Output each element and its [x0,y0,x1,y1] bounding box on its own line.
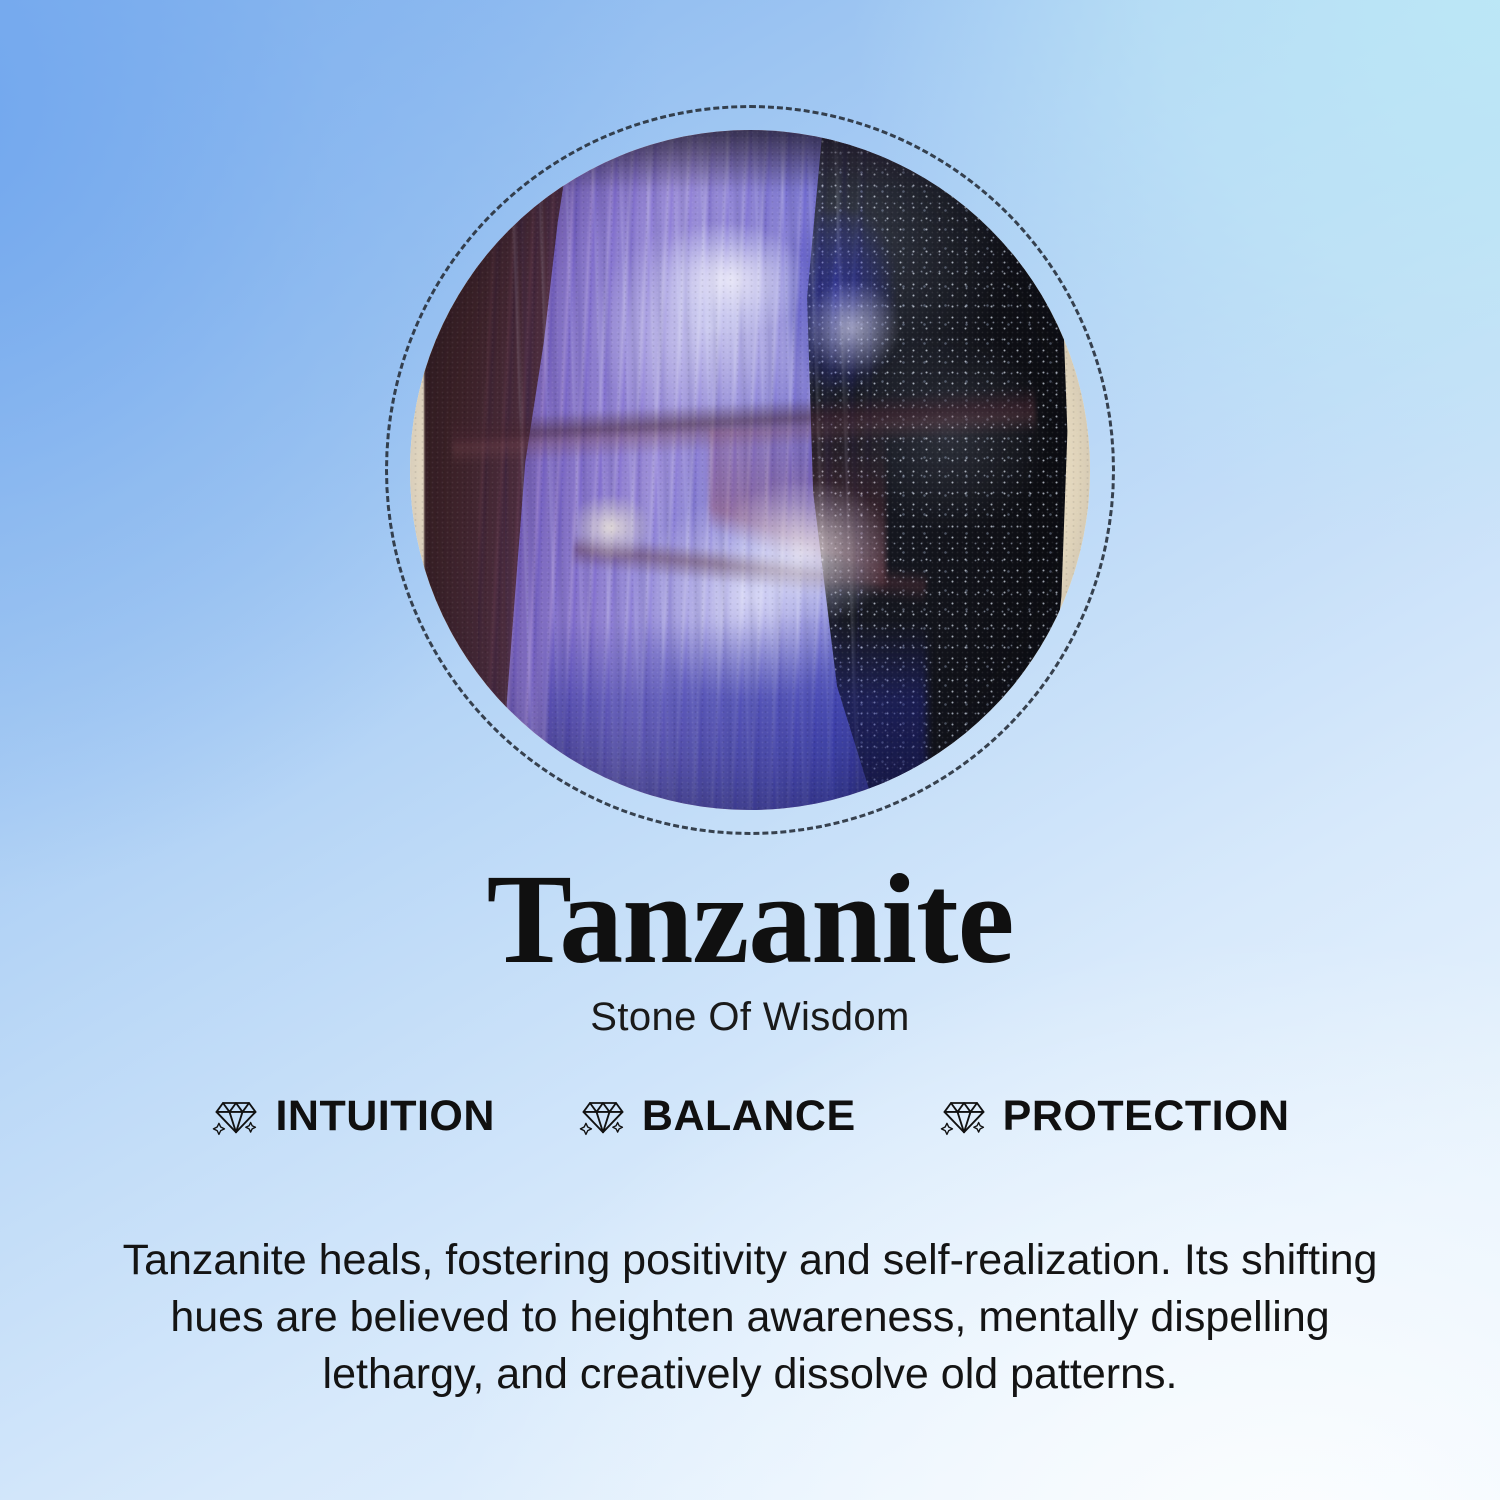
attribute-label: PROTECTION [1003,1092,1290,1141]
attribute-label: INTUITION [275,1092,494,1141]
description-text: Tanzanite heals, fostering positivity an… [95,1232,1405,1404]
diamond-gem-icon [210,1090,262,1142]
dashed-circle-frame [385,105,1115,835]
attribute-item-intuition: INTUITION [210,1090,494,1142]
diamond-gem-icon [577,1090,629,1142]
attribute-label: BALANCE [642,1092,856,1141]
page-title: Tanzanite [0,855,1500,983]
attributes-row: INTUITION BALANCE [0,1090,1500,1142]
diamond-gem-icon [938,1090,990,1142]
gemstone-hero [385,105,1115,835]
page-subtitle: Stone Of Wisdom [0,995,1500,1040]
poster-content: Tanzanite Stone Of Wisdom INTUITION [0,0,1500,1500]
attribute-item-balance: BALANCE [577,1090,856,1142]
attribute-item-protection: PROTECTION [938,1090,1290,1142]
